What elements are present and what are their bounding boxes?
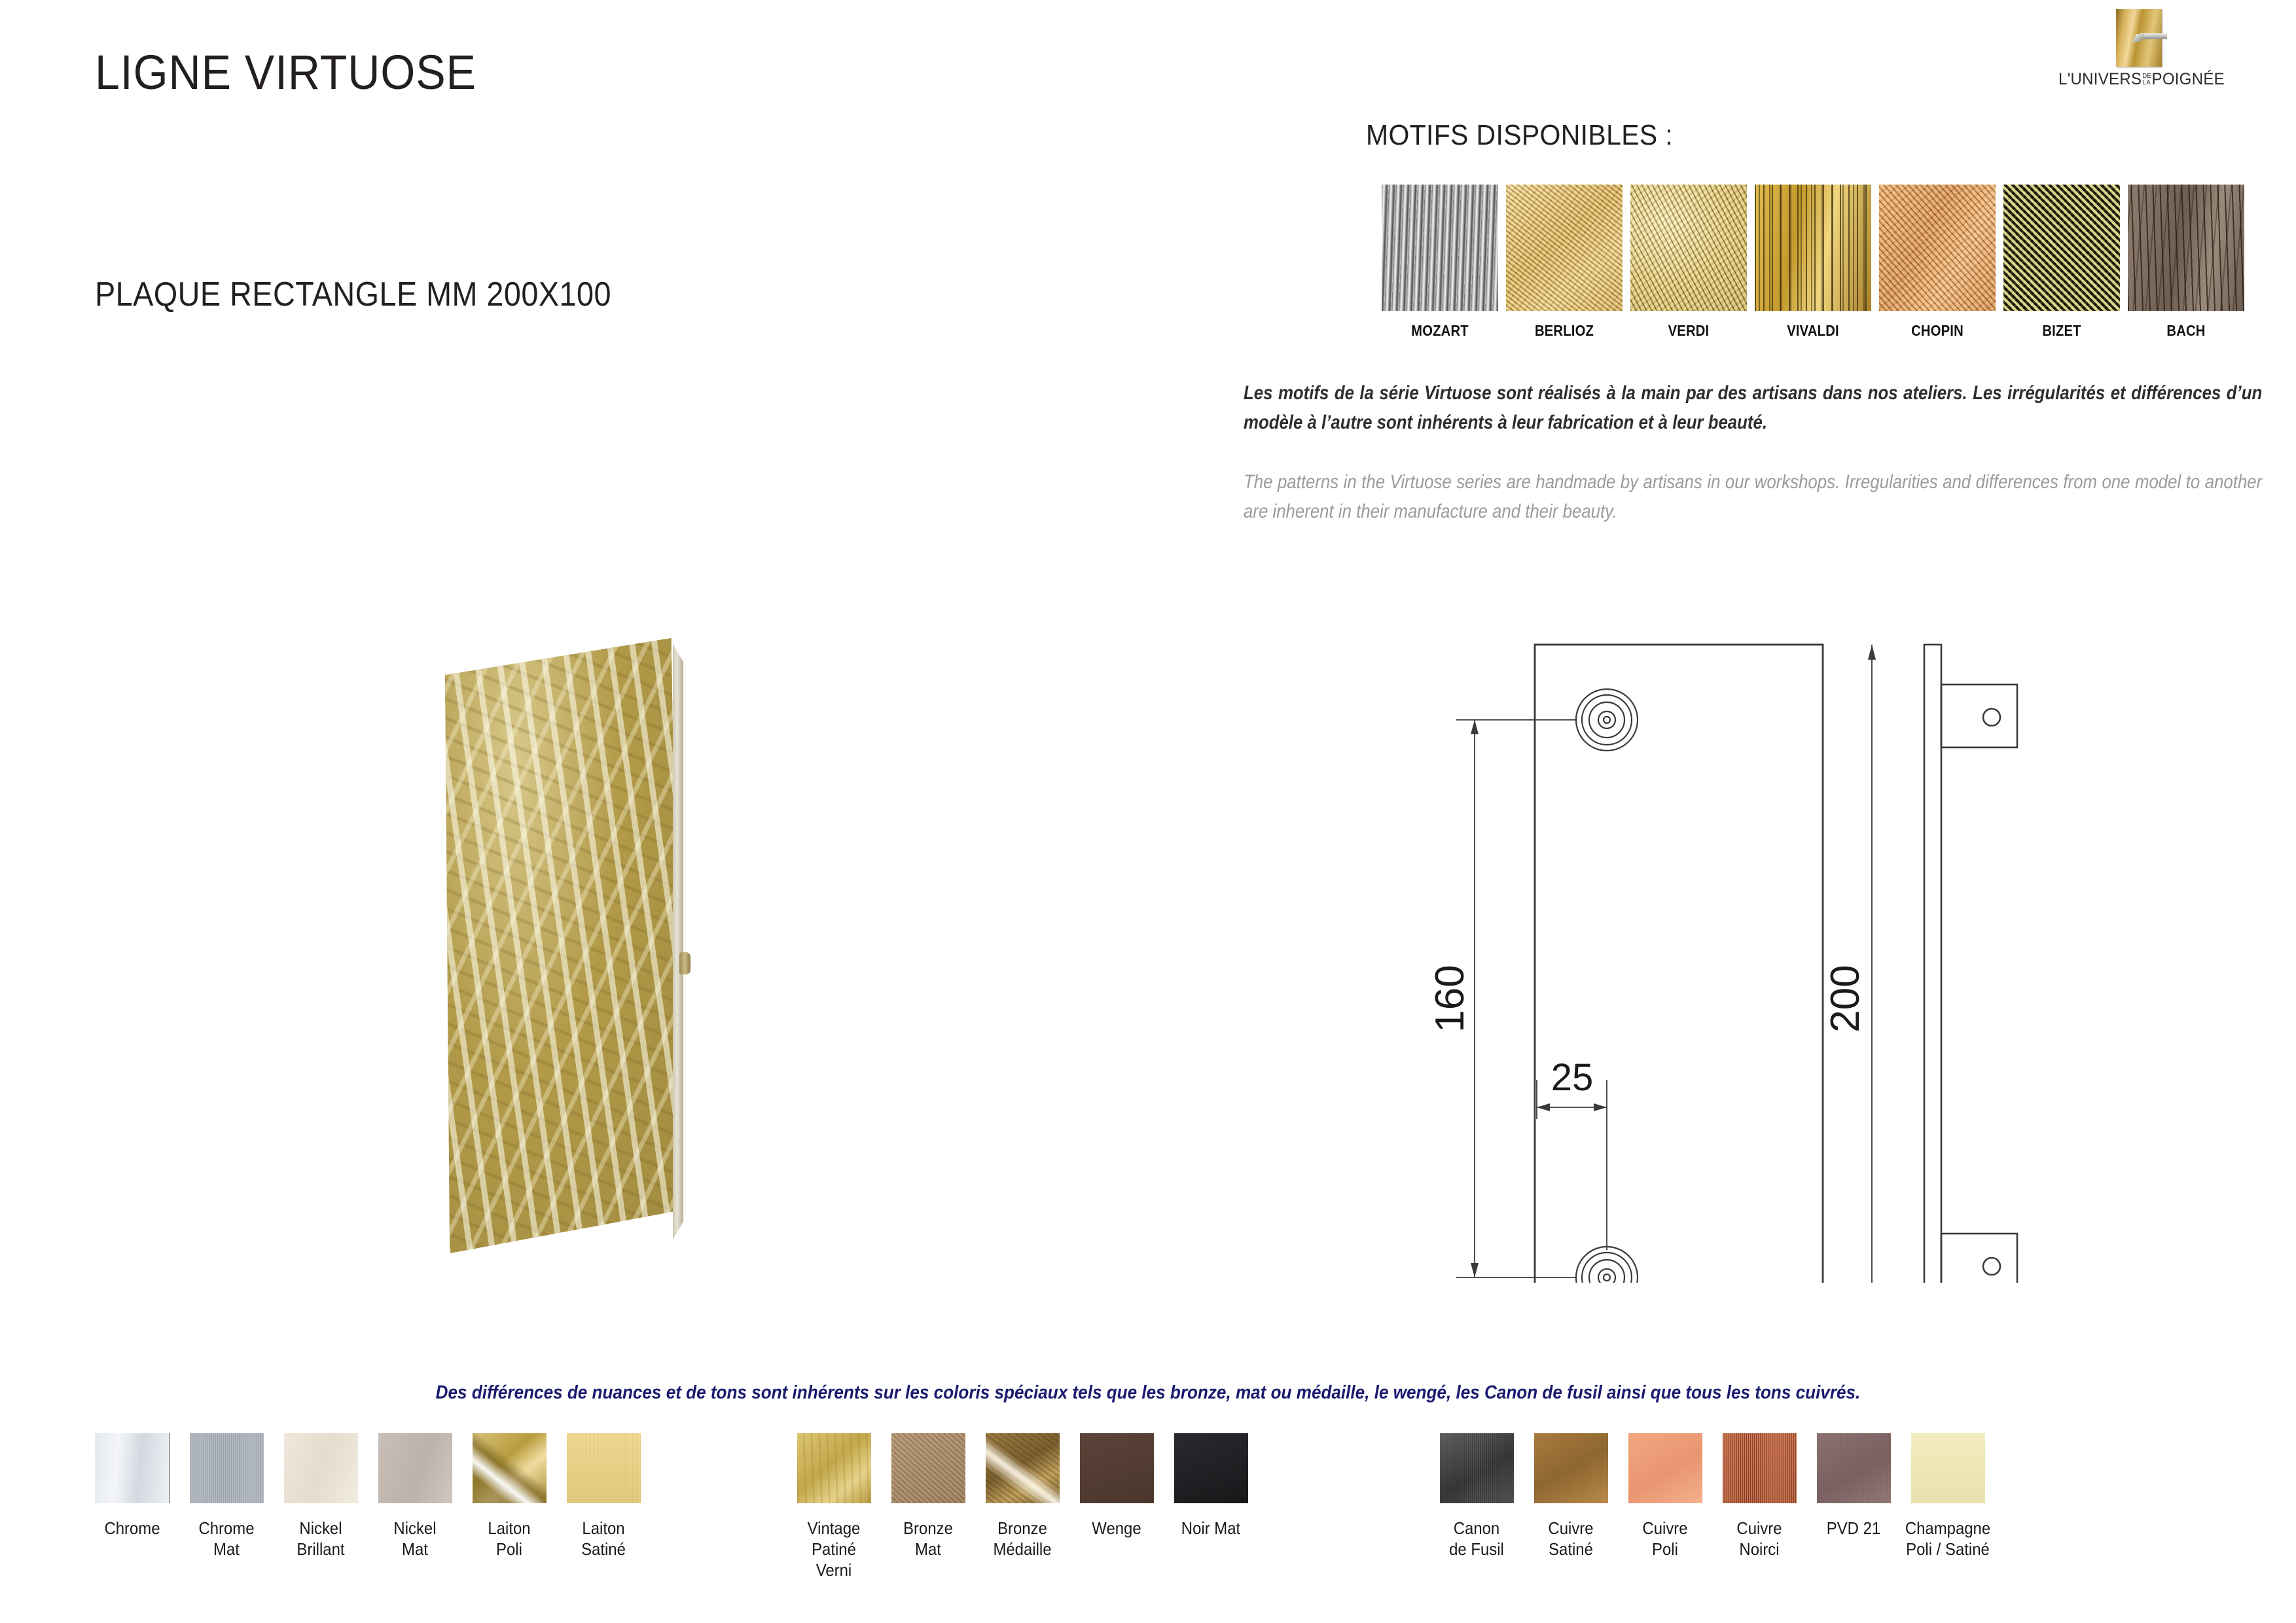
finish-label-bronze-mat: Bronze Mat [885,1518,971,1560]
product-name: PLAQUE RECTANGLE MM 200X100 [95,275,611,314]
finish-item[interactable]: Bronze Médaille [975,1433,1069,1581]
screw-hole-top [1576,689,1638,751]
dim-label-25: 25 [1551,1056,1594,1099]
description-french: Les motifs de la série Virtuose sont réa… [1244,378,2262,437]
brand-word-poignee: POIGNÉE [2152,70,2225,88]
finish-item[interactable]: Cuivre Satiné [1524,1433,1618,1581]
motif-label-berlioz: BERLIOZ [1509,322,1619,340]
finish-item[interactable]: Noir Mat [1164,1433,1258,1581]
finish-swatch-bronze-medaille [986,1433,1060,1503]
finish-label-cuivre-poli: Cuivre Poli [1622,1518,1708,1560]
motif-label-mozart: MOZART [1385,322,1494,340]
finish-item[interactable]: Chrome Mat [179,1433,274,1581]
finish-swatch-chrome-mat [190,1433,264,1503]
brand-logo: L'UNIVERSDELAPOIGNÉE [2011,9,2272,89]
finish-swatch-chrome [95,1433,170,1503]
motif-swatch-berlioz [1506,185,1623,311]
motif-item[interactable]: VIVALDI [1751,185,1875,340]
mounting-tab-top [1941,685,2017,747]
finish-item[interactable]: Canon de Fusil [1429,1433,1524,1581]
motif-label-bach: BACH [2131,322,2240,340]
finish-label-champagne-poli-satine: Champagne Poli / Satiné [1905,1518,1991,1560]
motif-item[interactable]: CHOPIN [1875,185,2000,340]
finishes-disclaimer: Des différences de nuances et de tons so… [436,1382,1861,1404]
finish-label-pvd-21: PVD 21 [1810,1518,1897,1539]
finish-swatch-canon-de-fusil [1440,1433,1514,1503]
finish-item[interactable]: Laiton Satiné [556,1433,651,1581]
finish-item[interactable]: Chrome [85,1433,179,1581]
finish-label-vintage-patine-verni: Vintage Patiné Verni [791,1518,877,1581]
finish-label-wenge: Wenge [1073,1518,1160,1539]
motif-item[interactable]: BIZET [2000,185,2124,340]
finish-label-nickel-brillant: Nickel Brillant [278,1518,364,1560]
finish-label-cuivre-noirci: Cuivre Noirci [1716,1518,1803,1560]
door-plate-logo-icon [2116,9,2167,67]
dim-label-200: 200 [1823,965,1868,1032]
product-photo [425,638,707,1266]
motif-label-verdi: VERDI [1634,322,1743,340]
finishes-gallery: Chrome Chrome Mat Nickel Brillant Nickel… [0,1433,2296,1581]
finish-swatch-bronze-mat [891,1433,965,1503]
finish-label-cuivre-satine: Cuivre Satiné [1528,1518,1614,1560]
brand-name: L'UNIVERSDELAPOIGNÉE [2016,70,2267,89]
finish-swatch-cuivre-poli [1628,1433,1702,1503]
motif-item[interactable]: MOZART [1378,185,1502,340]
finish-item[interactable]: Nickel Mat [368,1433,462,1581]
finish-swatch-cuivre-satine [1534,1433,1608,1503]
dim-label-160: 160 [1427,965,1473,1032]
finish-label-chrome: Chrome [89,1518,175,1539]
finish-item[interactable]: Vintage Patiné Verni [787,1433,881,1581]
motif-swatch-verdi [1630,185,1747,311]
finish-swatch-pvd-21 [1817,1433,1891,1503]
finish-group-coppers-pvd: Canon de Fusil Cuivre Satiné Cuivre Poli… [1429,1433,1995,1581]
logo-handle-shape [2140,33,2167,39]
finish-label-noir-mat: Noir Mat [1168,1518,1254,1539]
brand-word-la: LA [2142,80,2151,86]
motif-label-bizet: BIZET [2007,322,2116,340]
mounting-tab-bottom [1941,1234,2017,1283]
finish-swatch-champagne-poli-satine [1911,1433,1985,1503]
finish-item[interactable]: Wenge [1069,1433,1164,1581]
motif-swatch-vivaldi [1755,185,1871,311]
motifs-heading: MOTIFS DISPONIBLES : [1366,119,1673,152]
brand-word-dela: DELA [2142,73,2151,86]
finish-swatch-vintage-patine-verni [797,1433,871,1503]
motif-label-vivaldi: VIVALDI [1758,322,1867,340]
motif-swatch-bizet [2003,185,2120,311]
finish-label-laiton-satine: Laiton Satiné [560,1518,647,1560]
motifs-gallery: MOZART BERLIOZ VERDI VIVALDI CHOPIN BIZE… [1378,185,2248,340]
finish-label-laiton-poli: Laiton Poli [466,1518,552,1560]
motif-item[interactable]: VERDI [1626,185,1751,340]
page-title: LIGNE VIRTUOSE [95,45,476,100]
finish-label-chrome-mat: Chrome Mat [183,1518,270,1560]
product-plate-fixing [679,952,691,974]
finish-label-canon-de-fusil: Canon de Fusil [1433,1518,1520,1560]
product-plate-edge [673,644,683,1240]
side-view-plate [1924,645,1941,1283]
product-plate-face [445,638,681,1253]
finish-label-nickel-mat: Nickel Mat [372,1518,458,1560]
motif-swatch-mozart [1382,185,1498,311]
finish-swatch-cuivre-noirci [1723,1433,1797,1503]
finish-swatch-noir-mat [1174,1433,1248,1503]
finish-swatch-laiton-poli [473,1433,547,1503]
finish-group-bronzes-darks: Vintage Patiné Verni Bronze Mat Bronze M… [787,1433,1258,1581]
finish-swatch-wenge [1080,1433,1154,1503]
motif-swatch-bach [2128,185,2244,311]
finish-swatch-nickel-mat [378,1433,452,1503]
finish-item[interactable]: Champagne Poli / Satiné [1901,1433,1995,1581]
finish-item[interactable]: Bronze Mat [881,1433,975,1581]
finish-item[interactable]: PVD 21 [1806,1433,1901,1581]
motif-item[interactable]: BERLIOZ [1502,185,1626,340]
screw-hole-bottom [1576,1247,1638,1283]
description-english: The patterns in the Virtuose series are … [1244,467,2262,526]
finish-item[interactable]: Cuivre Noirci [1712,1433,1806,1581]
technical-drawing: 160 25 200 32 [1407,622,2232,1283]
finish-item[interactable]: Laiton Poli [462,1433,556,1581]
finish-group-metals-light: Chrome Chrome Mat Nickel Brillant Nickel… [85,1433,651,1581]
motif-item[interactable]: BACH [2124,185,2248,340]
finish-item[interactable]: Cuivre Poli [1618,1433,1712,1581]
finish-label-bronze-medaille: Bronze Médaille [979,1518,1066,1560]
finish-item[interactable]: Nickel Brillant [274,1433,368,1581]
finish-swatch-laiton-satine [567,1433,641,1503]
description-block: Les motifs de la série Virtuose sont réa… [1244,378,2265,526]
motif-label-chopin: CHOPIN [1882,322,1992,340]
brand-word-univers: L'UNIVERS [2058,70,2142,88]
motif-swatch-chopin [1879,185,1996,311]
finish-swatch-nickel-brillant [284,1433,358,1503]
